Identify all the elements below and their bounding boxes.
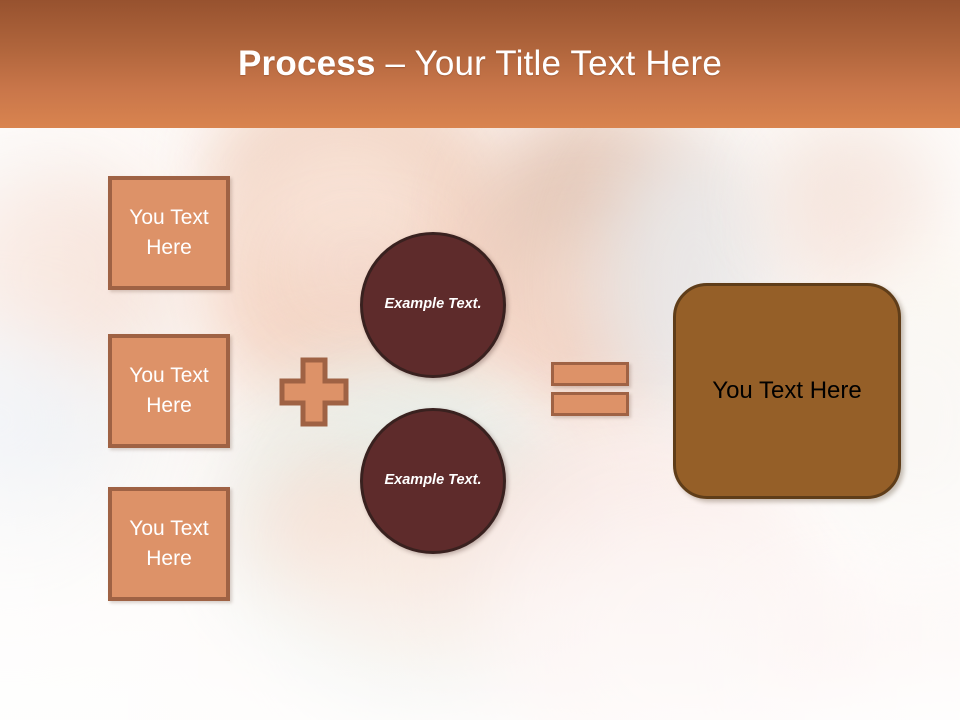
result-box-label: You Text Here <box>712 377 861 405</box>
example-circle-1[interactable]: Example Text. <box>360 232 506 378</box>
page-title-emphasis: Process <box>238 44 376 83</box>
example-circle-1-label: Example Text. <box>385 294 482 316</box>
page-title-rest: – Your Title Text Here <box>376 44 722 83</box>
result-box[interactable]: You Text Here <box>673 283 901 499</box>
example-circle-2-label: Example Text. <box>385 470 482 492</box>
title-banner: Process – Your Title Text Here <box>0 0 960 128</box>
left-box-2-label: You Text Here <box>112 361 226 422</box>
left-box-3-label: You Text Here <box>112 514 226 575</box>
equals-icon <box>551 362 631 418</box>
left-box-2[interactable]: You Text Here <box>108 334 230 448</box>
left-box-3[interactable]: You Text Here <box>108 487 230 601</box>
example-circle-2[interactable]: Example Text. <box>360 408 506 554</box>
left-box-1[interactable]: You Text Here <box>108 176 230 290</box>
page-title: Process – Your Title Text Here <box>238 44 722 84</box>
slide-canvas: Process – Your Title Text Here You Text … <box>0 0 960 720</box>
plus-icon <box>279 357 349 427</box>
left-box-1-label: You Text Here <box>112 203 226 264</box>
equals-bar-bottom <box>551 392 629 416</box>
equals-bar-top <box>551 362 629 386</box>
